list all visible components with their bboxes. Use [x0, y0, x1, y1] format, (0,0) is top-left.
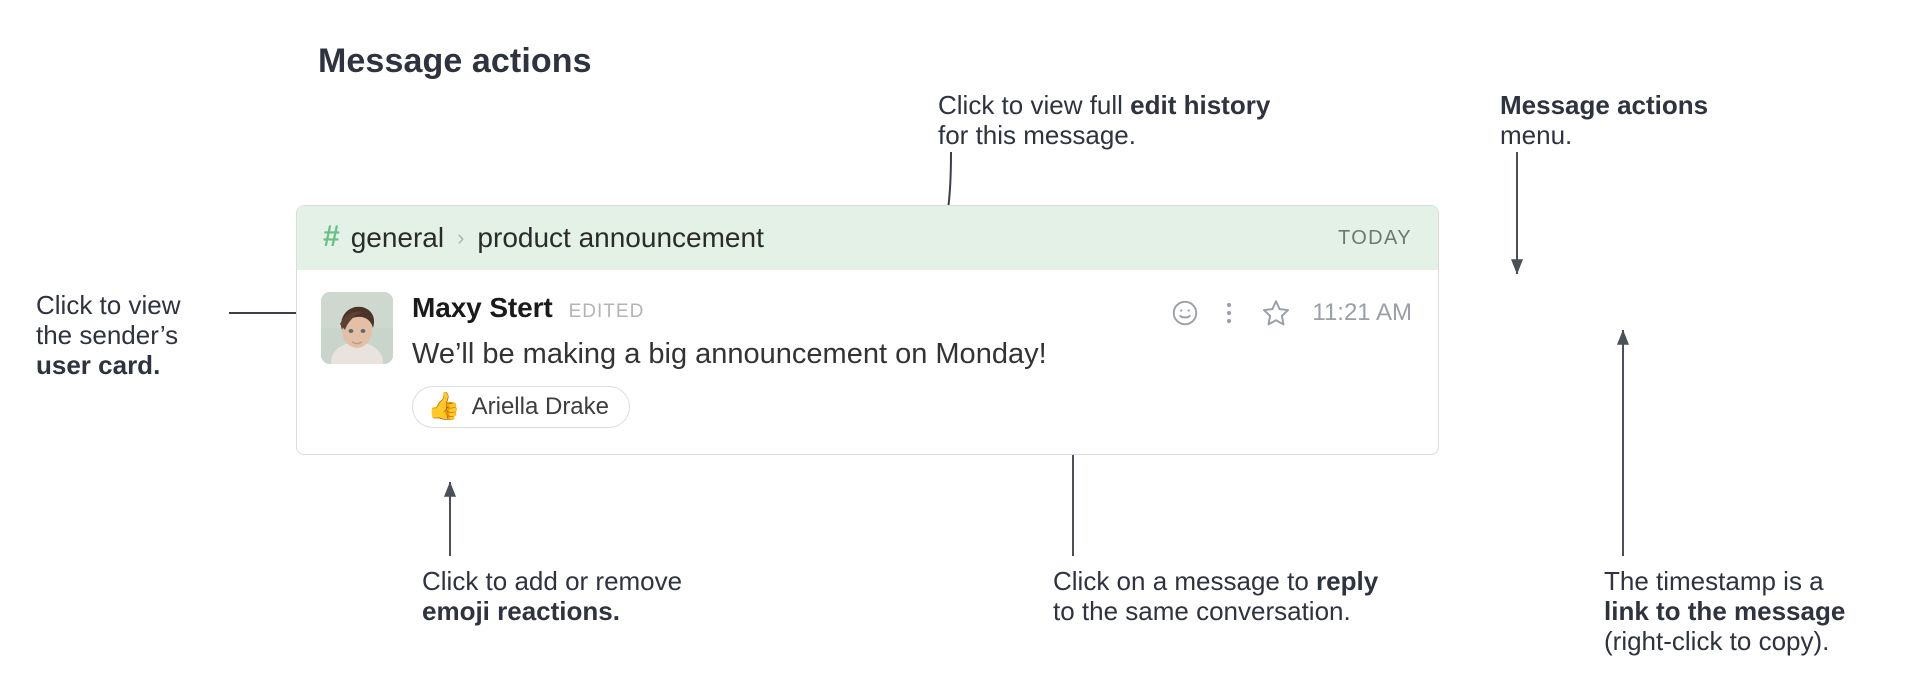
reaction-user-name: Ariella Drake — [472, 393, 609, 421]
callout-line: link to the message — [1604, 596, 1845, 626]
date-label: TODAY — [1338, 227, 1412, 250]
callout-line: emoji reactions. — [422, 596, 682, 626]
message-text[interactable]: We’ll be making a big announcement on Mo… — [412, 337, 1412, 372]
callout-timestamp-link: The timestamp is alink to the message(ri… — [1604, 566, 1845, 656]
callout-line: to the same conversation. — [1053, 596, 1378, 626]
message-row[interactable]: Maxy Stert EDITED We’ll be making a big … — [297, 270, 1438, 454]
callout-reply: Click on a message to replyto the same c… — [1053, 566, 1378, 626]
callout-line: for this message. — [938, 120, 1270, 150]
callout-line: The timestamp is a — [1604, 566, 1845, 596]
emoji-react-icon[interactable] — [1162, 296, 1208, 330]
stream-name[interactable]: general — [351, 222, 444, 254]
star-icon[interactable] — [1250, 296, 1302, 330]
page-title: Message actions — [318, 42, 592, 81]
callout-emoji-reactions: Click to add or removeemoji reactions. — [422, 566, 682, 626]
edited-badge[interactable]: EDITED — [569, 301, 645, 323]
diagram-stage: Message actions — [0, 0, 1924, 696]
callout-line: Click to add or remove — [422, 566, 682, 596]
callout-user-card: Click to viewthe sender’suser card. — [36, 290, 180, 380]
actions-menu-icon[interactable] — [1208, 296, 1250, 330]
reaction-list: 👍 Ariella Drake — [412, 386, 1412, 428]
callout-line: the sender’s — [36, 320, 180, 350]
callout-line: Click to view full edit history — [938, 90, 1270, 120]
callout-line: user card. — [36, 350, 180, 380]
callout-actions-menu: Message actionsmenu. — [1500, 90, 1708, 150]
reaction-pill[interactable]: 👍 Ariella Drake — [412, 386, 630, 428]
topic-name[interactable]: product announcement — [477, 222, 763, 254]
message-card: # general › product announcement TODAY — [296, 205, 1439, 455]
avatar[interactable] — [321, 292, 393, 364]
sender-name[interactable]: Maxy Stert — [412, 292, 553, 324]
hash-icon: # — [323, 222, 340, 252]
chevron-right-icon: › — [457, 227, 464, 249]
callout-line: Click on a message to reply — [1053, 566, 1378, 596]
stream-topic-header: # general › product announcement TODAY — [297, 206, 1438, 270]
timestamp[interactable]: 11:21 AM — [1312, 299, 1412, 327]
thumbs-up-icon: 👍 — [427, 393, 461, 420]
callout-line: (right-click to copy). — [1604, 626, 1845, 656]
callout-line: menu. — [1500, 120, 1708, 150]
message-controls: 11:21 AM — [1162, 296, 1412, 330]
callout-edit-history: Click to view full edit historyfor this … — [938, 90, 1270, 150]
callout-line: Message actions — [1500, 90, 1708, 120]
callout-line: Click to view — [36, 290, 180, 320]
